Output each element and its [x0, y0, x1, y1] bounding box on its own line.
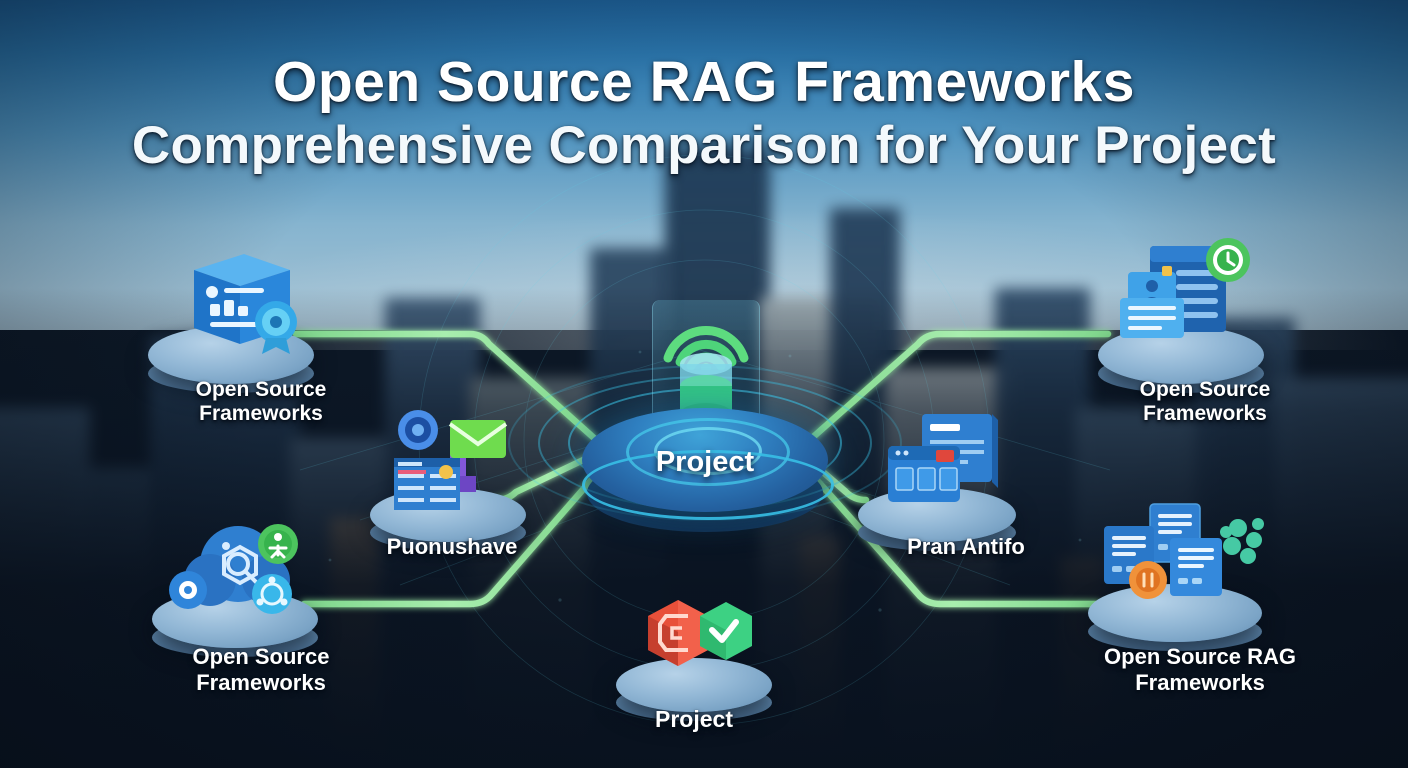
hub-project[interactable]: Project	[560, 300, 850, 530]
node-bottom-right[interactable]: Open Source RAG Frameworks	[1088, 556, 1268, 648]
document-panel-icon	[882, 408, 1002, 514]
folder-icon	[1120, 298, 1184, 338]
node-label: Puonushave	[352, 534, 552, 560]
node-label: Project	[604, 706, 784, 733]
orange-seal-icon	[1129, 561, 1167, 599]
node-top-left[interactable]: Open Source Frameworks	[148, 296, 318, 386]
title-block: Open Source RAG Frameworks Comprehensive…	[0, 52, 1408, 176]
molecule-icon	[1220, 518, 1264, 564]
title-line-1: Open Source RAG Frameworks	[0, 52, 1408, 112]
node-label: Pran Antifo	[866, 534, 1066, 560]
gear-badge-icon	[398, 410, 438, 450]
node-label: Open Source Frameworks	[1085, 378, 1325, 427]
check-hex-icon	[700, 602, 752, 660]
node-label: Open Source Frameworks	[146, 644, 376, 695]
spreadsheet-envelope-icon	[388, 406, 514, 518]
person-badge-icon	[258, 524, 298, 564]
dashboard-cube-icon	[182, 248, 302, 356]
infographic-canvas: Project Open Source Frameworks	[0, 0, 1408, 768]
card-front-icon	[1170, 538, 1222, 596]
network-badge-icon	[252, 574, 292, 614]
green-check-circle-icon	[1206, 238, 1250, 282]
document-cards-icon	[1092, 498, 1268, 614]
node-bottom-center[interactable]: Project	[616, 636, 776, 726]
gear-badge-icon	[169, 571, 207, 609]
node-top-right[interactable]: Open Source Frameworks	[1098, 296, 1268, 386]
document-stack-icon	[1110, 238, 1260, 358]
spreadsheet-icon	[394, 458, 460, 510]
media-panel-icon	[888, 446, 960, 502]
node-bottom-left[interactable]: Open Source Frameworks	[152, 566, 322, 656]
node-label: Open Source Frameworks	[146, 378, 376, 427]
envelope-icon	[450, 420, 506, 458]
cloud-search-icon	[166, 518, 306, 626]
hub-label: Project	[560, 446, 850, 479]
node-mid-left[interactable]: Puonushave	[370, 468, 530, 548]
rosette-badge-icon	[255, 301, 297, 354]
node-mid-right[interactable]: Pran Antifo	[858, 468, 1018, 548]
node-label: Open Source RAG Frameworks	[1050, 644, 1350, 695]
hex-c-check-icon	[630, 598, 760, 684]
red-hex-icon	[648, 600, 708, 666]
title-line-2: Comprehensive Comparison for Your Projec…	[0, 116, 1408, 175]
